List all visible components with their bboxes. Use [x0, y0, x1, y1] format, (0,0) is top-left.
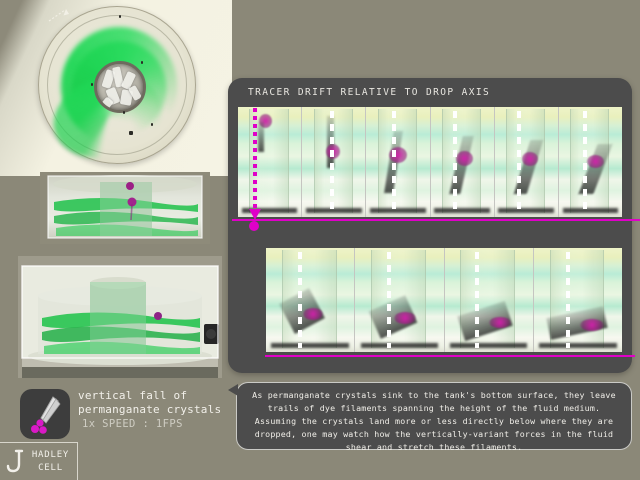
frame-strip-top [238, 107, 622, 217]
frame-thumbnail[interactable] [302, 107, 366, 217]
caption-pointer [228, 384, 238, 396]
rotation-direction-arrow [48, 8, 74, 24]
drop-axis-guide [253, 108, 257, 216]
hadley-circulation-icon [6, 449, 26, 475]
frame-thumbnail[interactable] [366, 107, 430, 217]
tank-floor-baseline-top [232, 219, 640, 221]
tracer-drift-panel: TRACER DRIFT RELATIVE TO DROP AXIS [228, 78, 632, 373]
tank-floor-baseline-bottom [265, 355, 635, 357]
frame-thumbnail[interactable] [495, 107, 559, 217]
photo-rotating-tank-top-down [0, 0, 232, 176]
frame-thumbnail[interactable] [355, 248, 444, 352]
hadley-cell-badge[interactable]: HADLEY CELL [0, 442, 78, 480]
ice-bucket [94, 61, 146, 113]
frame-thumbnail[interactable] [559, 107, 622, 217]
hadley-line-1: HADLEY [26, 449, 75, 462]
caption-box: As permanganate crystals sink to the tan… [236, 382, 632, 450]
photo-rotating-tank-side-small [40, 172, 210, 244]
hadley-cell-label: HADLEY CELL [26, 449, 75, 475]
tank-rim [38, 6, 196, 164]
frame-thumbnail[interactable] [445, 248, 534, 352]
tweezers-crystals-icon [20, 389, 70, 439]
frame-thumbnail[interactable] [266, 248, 355, 352]
clip-title-line-1: vertical fall of [78, 389, 228, 403]
drop-direction-arrow [247, 209, 263, 221]
clip-label: vertical fall of permanganate crystals 1… [78, 389, 228, 431]
hadley-line-2: CELL [26, 462, 75, 475]
frame-thumbnail[interactable] [238, 107, 302, 217]
frame-thumbnail[interactable] [431, 107, 495, 217]
clip-speed-indicator: 1x SPEED : 1FPS [78, 417, 228, 431]
caption-text: As permanganate crystals sink to the tan… [251, 389, 617, 454]
clip-title-line-2: permanganate crystals [78, 403, 228, 417]
drop-landing-marker [249, 221, 259, 231]
app-root: TRACER DRIFT RELATIVE TO DROP AXIS [0, 0, 640, 480]
frame-strip-bottom [266, 248, 622, 352]
photo-rotating-tank-side-large [18, 256, 222, 378]
frame-thumbnail[interactable] [534, 248, 622, 352]
panel-title: TRACER DRIFT RELATIVE TO DROP AXIS [248, 87, 490, 98]
